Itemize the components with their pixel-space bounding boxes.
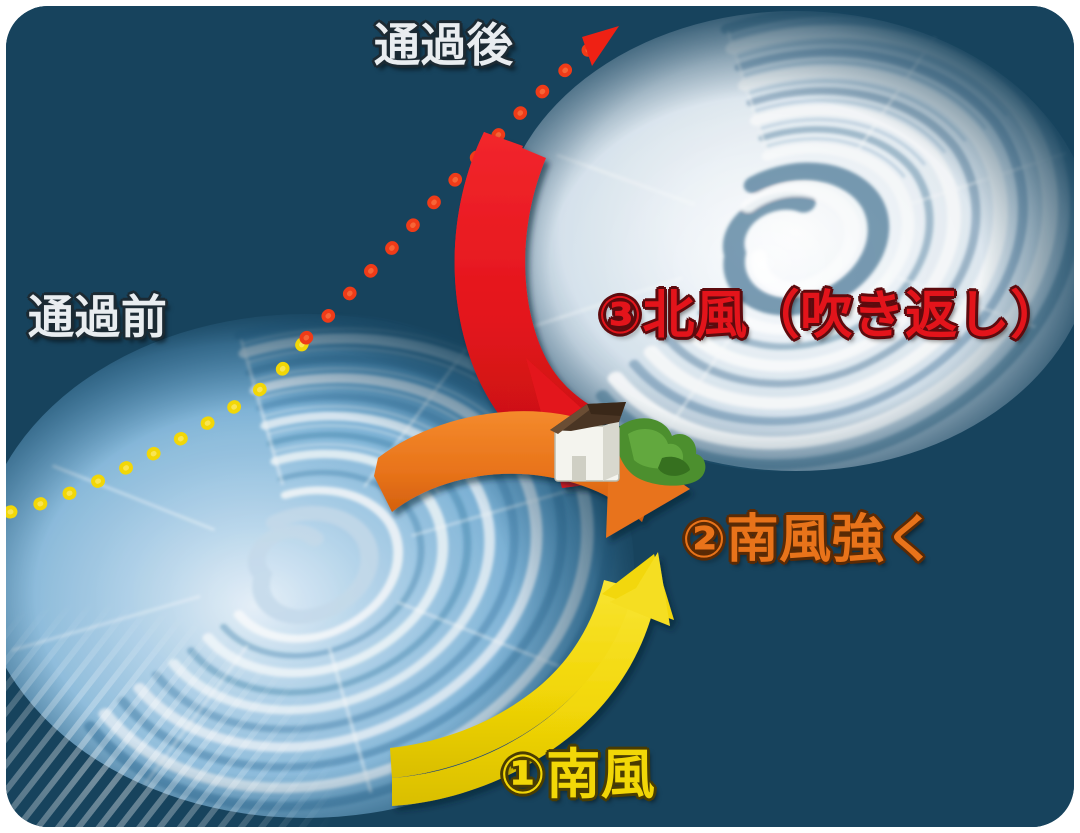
typhoon-diagram-root: 通過後 通過前 ③北風（吹き返し） ②南風強く ①南風 — [0, 0, 1080, 833]
diagram-card: 通過後 通過前 ③北風（吹き返し） ②南風強く ①南風 — [6, 6, 1074, 827]
diagram-canvas — [6, 6, 1074, 827]
